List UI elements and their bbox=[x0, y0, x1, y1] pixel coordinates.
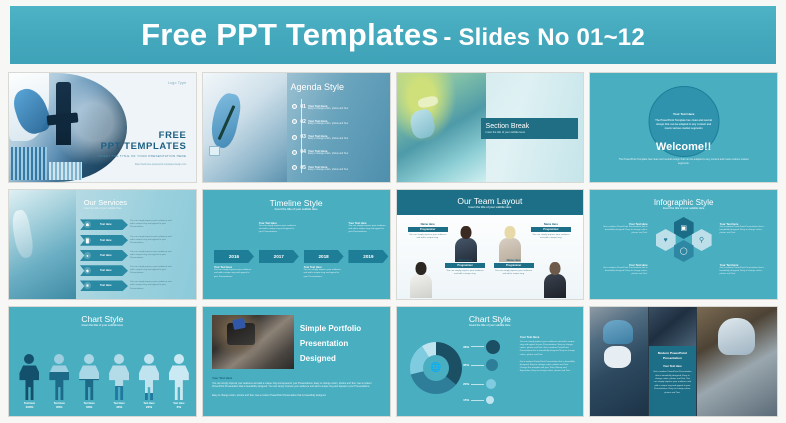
member-name: Name Here bbox=[531, 223, 571, 226]
legend-connector bbox=[471, 365, 484, 366]
id-badge-shape bbox=[209, 146, 221, 156]
quadrant-desc: Get a modern PowerPoint Presentation tha… bbox=[720, 267, 768, 277]
welcome-title: Welcome!! bbox=[590, 141, 777, 153]
quadrant-desc: Get a modern PowerPoint Presentation tha… bbox=[600, 226, 648, 236]
title-footer-url: https://www.free-powerpoint-templates-de… bbox=[98, 164, 187, 166]
goggles-shape bbox=[417, 95, 438, 109]
team-card-3: Name Here Programmer You can simply impr… bbox=[445, 259, 485, 276]
member-desc: You can simply impress your audience and… bbox=[494, 270, 534, 276]
portfolio-title-line-2: Presentation bbox=[300, 337, 361, 352]
member-desc: You can simply impress your audience and… bbox=[531, 234, 571, 240]
capsule-icon: ● bbox=[84, 252, 91, 259]
agenda-bullet-icon bbox=[292, 135, 297, 140]
person-icon bbox=[138, 354, 160, 400]
right-paragraph-1: You can simply impress your audience and… bbox=[520, 341, 576, 357]
donut-legend-row-4: 15% bbox=[458, 396, 494, 404]
portfolio-title-line-3: Designed bbox=[300, 352, 361, 367]
service-chevron: ● Text Here bbox=[80, 250, 128, 261]
member-name: Name Here bbox=[494, 259, 534, 262]
bandage-icon: █ bbox=[84, 237, 91, 244]
timeline-desc: You can simply impress your audience and… bbox=[304, 269, 344, 279]
person-head bbox=[174, 354, 184, 364]
slide-thumbnail-04-welcome[interactable]: Your Text Here The PowerPoint Template h… bbox=[589, 72, 778, 183]
timeline-block-4: Your Text Here You can simply impress yo… bbox=[348, 222, 388, 235]
capsule-icon: ◯ bbox=[674, 240, 694, 262]
pictogram-column-4: Text Here 40% bbox=[106, 354, 132, 409]
slide-thumbnail-11-chart-donut[interactable]: Chart Style Insert the title of your sub… bbox=[396, 306, 585, 417]
modern-text-panel: Modern PowerPoint Presentation Your Text… bbox=[649, 346, 696, 416]
slide-header: Chart Style Insert the title of your sub… bbox=[397, 314, 584, 327]
person-head bbox=[54, 354, 64, 364]
service-chevron: ◆ Text Here bbox=[80, 265, 128, 276]
virus-icon: ✹ bbox=[84, 282, 91, 289]
service-chevron: ✹ Text Here bbox=[80, 280, 128, 291]
person-body bbox=[169, 365, 189, 400]
value-label: 100% bbox=[16, 405, 42, 409]
infographic-quadrant-1: Your Text Here Get a modern PowerPoint P… bbox=[600, 223, 648, 236]
agenda-item-04: 04 Your Text Here Easy to change colors,… bbox=[292, 149, 348, 155]
microscope-icon: ◆ bbox=[84, 267, 91, 274]
timeline-desc: You can simply impress your audience and… bbox=[259, 225, 299, 235]
agenda-desc: Easy to change colors, photos and Text. bbox=[308, 108, 349, 110]
surgery-photo-top bbox=[649, 307, 696, 346]
donut-legend-row-2: 35% bbox=[458, 359, 498, 371]
slide-subtitle: Insert the title of your subtitle Here bbox=[9, 324, 196, 327]
slide-thumbnail-10-portfolio[interactable]: Simple Portfolio Presentation Designed Y… bbox=[202, 306, 391, 417]
surgery-photo-left bbox=[590, 307, 648, 416]
service-label: Text Here bbox=[100, 223, 112, 226]
body-heading: Your Text Here bbox=[212, 376, 380, 380]
agenda-bullet-icon bbox=[292, 165, 297, 170]
person-body bbox=[49, 365, 69, 400]
timeline-block-3: Your Text Here You can simply impress yo… bbox=[304, 266, 344, 279]
infographic-quadrant-3: Your Text Here Get a modern PowerPoint P… bbox=[600, 264, 648, 277]
service-label: Text Here bbox=[100, 239, 112, 242]
agenda-desc: Easy to change colors, photos and Text. bbox=[308, 169, 349, 171]
infographic-quadrant-4: Your Text Here Get a modern PowerPoint P… bbox=[720, 264, 768, 277]
service-row-5: ✹ Text Here You can simply impress your … bbox=[80, 280, 172, 291]
value-label: 60% bbox=[76, 405, 102, 409]
slide-header: Our Services Insert the title of your su… bbox=[84, 198, 127, 210]
service-chevron: ☗ Text Here bbox=[80, 219, 128, 230]
legend-connector bbox=[471, 384, 484, 385]
service-label: Text Here bbox=[100, 269, 112, 272]
legend-connector bbox=[471, 346, 484, 347]
agenda-text: Your Text Here Easy to change colors, ph… bbox=[308, 119, 349, 125]
agenda-item-01: 01 Your Text Here Easy to change colors,… bbox=[292, 104, 348, 110]
slide-header: Chart Style Insert the title of your sub… bbox=[9, 314, 196, 327]
legend-connector bbox=[471, 400, 484, 401]
person-icon bbox=[48, 354, 70, 400]
person-icon bbox=[168, 354, 190, 400]
person-head bbox=[24, 354, 34, 364]
slide-thumbnail-03-section-break[interactable]: Section Break Insert the title of your s… bbox=[396, 72, 585, 183]
person-head bbox=[144, 354, 154, 364]
avatar-head bbox=[415, 262, 426, 275]
donut-legend-row-3: 20% bbox=[458, 379, 496, 389]
donut-right-text: Your Text Here You can simply impress yo… bbox=[520, 335, 576, 373]
timeline-block-2: Your Text Here You can simply impress yo… bbox=[259, 222, 299, 235]
mortar-pestle-icon: ⚲ bbox=[692, 229, 712, 251]
pictogram-column-6: Text Here 0% bbox=[166, 354, 192, 409]
avatar-body bbox=[544, 274, 566, 297]
slide-thumbnail-02-agenda[interactable]: Agenda Style 01 Your Text Here Easy to c… bbox=[202, 72, 391, 183]
team-card-1: Name Here Programmer You can simply impr… bbox=[408, 223, 448, 240]
agenda-item-02: 02 Your Text Here Easy to change colors,… bbox=[292, 119, 348, 125]
quadrant-desc: Get a modern PowerPoint Presentation tha… bbox=[600, 267, 648, 277]
body-paragraph-1: You can simply impress your audience and… bbox=[212, 382, 380, 389]
panel-heading: Your Text Here bbox=[653, 365, 692, 368]
slide-thumbnail-grid: Logo Type FREE PPT TEMPLATES INSERT THE … bbox=[8, 72, 778, 417]
member-role: Programmer bbox=[445, 263, 485, 268]
service-row-1: ☗ Text Here You can simply impress your … bbox=[80, 219, 172, 230]
title-line-2: PPT TEMPLATES bbox=[98, 141, 187, 152]
slide-thumbnail-08-infographic[interactable]: Infographic Style Insert the title of yo… bbox=[589, 189, 778, 300]
person-icon bbox=[18, 354, 40, 400]
surgeon-shape bbox=[718, 318, 755, 355]
welcome-subtitle: The PowerPoint Template has clean and ne… bbox=[613, 158, 755, 166]
member-desc: You can simply impress your audience and… bbox=[445, 270, 485, 276]
member-role: Programmer bbox=[408, 227, 448, 232]
right-paragraph-2: Get a modern PowerPoint Presentation tha… bbox=[520, 361, 576, 374]
agenda-bullet-icon bbox=[292, 104, 297, 109]
section-break-bar: Section Break Insert the title of your s… bbox=[481, 118, 578, 140]
slide-title: Timeline Style bbox=[203, 198, 390, 208]
tooth-icon: ☗ bbox=[84, 221, 91, 228]
agenda-item-05: 05 Your Text Here Easy to change colors,… bbox=[292, 165, 348, 171]
avatar-head bbox=[505, 226, 516, 239]
agenda-item-03: 03 Your Text Here Easy to change colors,… bbox=[292, 134, 348, 140]
face-mask-shape bbox=[408, 108, 437, 141]
masked-face-shape bbox=[10, 208, 36, 258]
person-head bbox=[84, 354, 94, 364]
surgeon-photo bbox=[9, 190, 76, 299]
slide-subtitle: Insert the title of your subtitle Here bbox=[84, 207, 127, 210]
service-desc: You can simply impress your audience and… bbox=[130, 220, 172, 229]
legend-bullet-icon bbox=[486, 340, 500, 354]
banner-title: Free PPT Templates - Slides No 01~12 bbox=[141, 17, 645, 53]
portfolio-body: Your Text Here You can simply impress yo… bbox=[212, 376, 380, 398]
slide-subtitle: Insert the title of your subtitle Here bbox=[203, 208, 390, 211]
test-tube-rack-shape bbox=[11, 147, 46, 180]
circle-body: The PowerPoint Template has clean and ne… bbox=[654, 119, 713, 130]
value-label: 80% bbox=[46, 405, 72, 409]
banner-title-sub: - Slides No 01~12 bbox=[443, 24, 645, 51]
slide-header: Timeline Style Insert the title of your … bbox=[203, 198, 390, 211]
avatar-body bbox=[410, 274, 432, 297]
slide-title: Agenda Style bbox=[291, 82, 345, 92]
service-desc: You can simply impress your audience and… bbox=[130, 236, 172, 245]
agenda-text: Your Text Here Easy to change colors, ph… bbox=[308, 104, 349, 110]
slide-thumbnail-07-team[interactable]: Our Team Layout Insert the title of your… bbox=[396, 189, 585, 300]
team-header-bar: Our Team Layout Insert the title of your… bbox=[397, 190, 584, 215]
service-desc: You can simply impress your audience and… bbox=[130, 281, 172, 290]
heart-icon: ♥ bbox=[656, 229, 676, 251]
timeline-year-2016: 2016 bbox=[214, 250, 254, 263]
title-line-1: FREE bbox=[98, 130, 187, 141]
right-heading: Your Text Here bbox=[520, 335, 576, 339]
value-label: 40% bbox=[106, 405, 132, 409]
person-body bbox=[19, 365, 39, 400]
slide-thumbnail-12-modern[interactable]: Modern PowerPoint Presentation Your Text… bbox=[589, 306, 778, 417]
body-paragraph-2: Easy to change colors, photos and Text. … bbox=[212, 394, 380, 398]
member-desc: You can simply impress your audience and… bbox=[408, 234, 448, 240]
surgical-cap-shape bbox=[603, 320, 633, 344]
member-name: Name Here bbox=[408, 223, 448, 226]
section-break-title: Section Break bbox=[486, 123, 578, 130]
team-card-4: Name Here Programmer You can simply impr… bbox=[494, 259, 534, 276]
hexagon-cluster: ▣ ♥ ⚲ ◯ bbox=[656, 217, 712, 261]
service-row-3: ● Text Here You can simply impress your … bbox=[80, 250, 172, 261]
service-row-2: █ Text Here You can simply impress your … bbox=[80, 235, 172, 246]
agenda-bullet-icon bbox=[292, 150, 297, 155]
banner-title-main: Free PPT Templates bbox=[141, 17, 439, 52]
timeline-desc: You can simply impress your audience and… bbox=[348, 225, 388, 235]
agenda-number: 01 bbox=[300, 104, 306, 110]
agenda-number: 02 bbox=[300, 119, 306, 125]
member-photo-1 bbox=[453, 222, 479, 262]
agenda-bullet-icon bbox=[292, 119, 297, 124]
slide-title: Chart Style bbox=[9, 314, 196, 324]
face-mask-shape bbox=[604, 346, 631, 368]
member-photo-4 bbox=[542, 258, 568, 298]
slide-header: Infographic Style Insert the title of yo… bbox=[590, 198, 777, 210]
person-head bbox=[114, 354, 124, 364]
legend-bullet-icon bbox=[486, 396, 494, 404]
team-card-2: Name Here Programmer You can simply impr… bbox=[531, 223, 571, 240]
donut-legend-row-1: 36% bbox=[458, 340, 500, 354]
service-desc: You can simply impress your audience and… bbox=[130, 266, 172, 275]
person-icon bbox=[78, 354, 100, 400]
service-row-4: ◆ Text Here You can simply impress your … bbox=[80, 265, 172, 276]
member-photo-3 bbox=[408, 258, 434, 298]
slide-subtitle: Insert the title of your subtitle Here bbox=[468, 206, 511, 209]
logo-placeholder: Logo Type bbox=[168, 81, 186, 85]
surgery-photo-right bbox=[697, 307, 777, 416]
slide-title: Chart Style bbox=[397, 314, 584, 324]
person-icon bbox=[108, 354, 130, 400]
service-label: Text Here bbox=[100, 284, 112, 287]
circle-heading: Your Text Here bbox=[673, 112, 695, 116]
infographic-quadrant-2: Your Text Here Get a modern PowerPoint P… bbox=[720, 223, 768, 236]
agenda-number: 05 bbox=[300, 165, 306, 171]
section-break-subtitle: Insert the title of your subtitle Here bbox=[486, 131, 578, 134]
portfolio-title: Simple Portfolio Presentation Designed bbox=[300, 322, 361, 366]
slide-title: Our Services bbox=[84, 198, 127, 207]
agenda-desc: Easy to change colors, photos and Text. bbox=[308, 123, 349, 125]
legend-percent: 15% bbox=[458, 398, 469, 402]
timeline-year-2019: 2019 bbox=[348, 250, 388, 263]
service-chevron: █ Text Here bbox=[80, 235, 128, 246]
agenda-number: 04 bbox=[300, 149, 306, 155]
legend-bullet-icon bbox=[486, 359, 498, 371]
timeline-year-2017: 2017 bbox=[259, 250, 299, 263]
slide-subtitle: Insert the title of your subtitle Here bbox=[590, 207, 777, 210]
slide-thumbnail-09-chart-people[interactable]: Chart Style Insert the title of your sub… bbox=[8, 306, 197, 417]
slide-subtitle: Insert the title of your subtitle Here bbox=[397, 324, 584, 327]
agenda-desc: Easy to change colors, photos and Text. bbox=[308, 153, 349, 155]
agenda-number: 03 bbox=[300, 134, 306, 140]
panel-title-line-2: Presentation bbox=[653, 356, 692, 361]
member-name: Name Here bbox=[445, 259, 485, 262]
service-desc: You can simply impress your audience and… bbox=[130, 251, 172, 260]
person-body bbox=[79, 365, 99, 400]
timeline-desc: You can simply impress your audience and… bbox=[214, 269, 254, 279]
pictogram-column-2: Text Here 80% bbox=[46, 354, 72, 409]
pictogram-column-3: Text Here 60% bbox=[76, 354, 102, 409]
title-subtitle: INSERT THE TITLE OF YOUR PRESENTATION HE… bbox=[98, 154, 187, 158]
panel-body: Get a modern PowerPoint Presentation tha… bbox=[653, 371, 692, 395]
quadrant-desc: Get a modern PowerPoint Presentation tha… bbox=[720, 226, 768, 236]
member-role: Programmer bbox=[531, 227, 571, 232]
agenda-text: Your Text Here Easy to change colors, ph… bbox=[308, 165, 349, 171]
globe-icon: 🌐 bbox=[410, 342, 462, 394]
agenda-text: Your Text Here Easy to change colors, ph… bbox=[308, 149, 349, 155]
timeline-year-2018: 2018 bbox=[304, 250, 344, 263]
legend-bullet-icon bbox=[486, 379, 496, 389]
agenda-text: Your Text Here Easy to change colors, ph… bbox=[308, 134, 349, 140]
page-header-banner: Free PPT Templates - Slides No 01~12 bbox=[10, 6, 776, 64]
clipboard-icon: ▣ bbox=[674, 217, 694, 239]
scientist-photo bbox=[397, 73, 487, 182]
avatar-head bbox=[550, 262, 561, 275]
pictogram-column-1: Text Here 100% bbox=[16, 354, 42, 409]
member-photo-2 bbox=[497, 222, 523, 262]
microscope-arm-shape bbox=[46, 113, 77, 126]
doctor-photo bbox=[203, 73, 287, 182]
timeline-block-1: Your Text Here You can simply impress yo… bbox=[214, 266, 254, 279]
value-label: 0% bbox=[166, 405, 192, 409]
pictogram-column-5: Text Here 20% bbox=[136, 354, 162, 409]
sample-tray-shape bbox=[49, 162, 82, 179]
avatar-head bbox=[460, 226, 471, 239]
agenda-desc: Easy to change colors, photos and Text. bbox=[308, 138, 349, 140]
portfolio-photo bbox=[212, 315, 294, 370]
value-label: 20% bbox=[136, 405, 162, 409]
member-role: Programmer bbox=[494, 263, 534, 268]
person-body bbox=[139, 365, 159, 400]
slide-title: Infographic Style bbox=[590, 198, 777, 207]
slide-thumbnail-05-our-services[interactable]: Our Services Insert the title of your su… bbox=[8, 189, 197, 300]
slide-thumbnail-06-timeline[interactable]: Timeline Style Insert the title of your … bbox=[202, 189, 391, 300]
slide-thumbnail-01-title[interactable]: Logo Type FREE PPT TEMPLATES INSERT THE … bbox=[8, 72, 197, 183]
service-label: Text Here bbox=[100, 254, 112, 257]
person-body bbox=[109, 365, 129, 400]
title-block: FREE PPT TEMPLATES INSERT THE TITLE OF Y… bbox=[98, 130, 187, 166]
portfolio-title-line-1: Simple Portfolio bbox=[300, 322, 361, 337]
slide-title: Our Team Layout bbox=[457, 196, 522, 206]
